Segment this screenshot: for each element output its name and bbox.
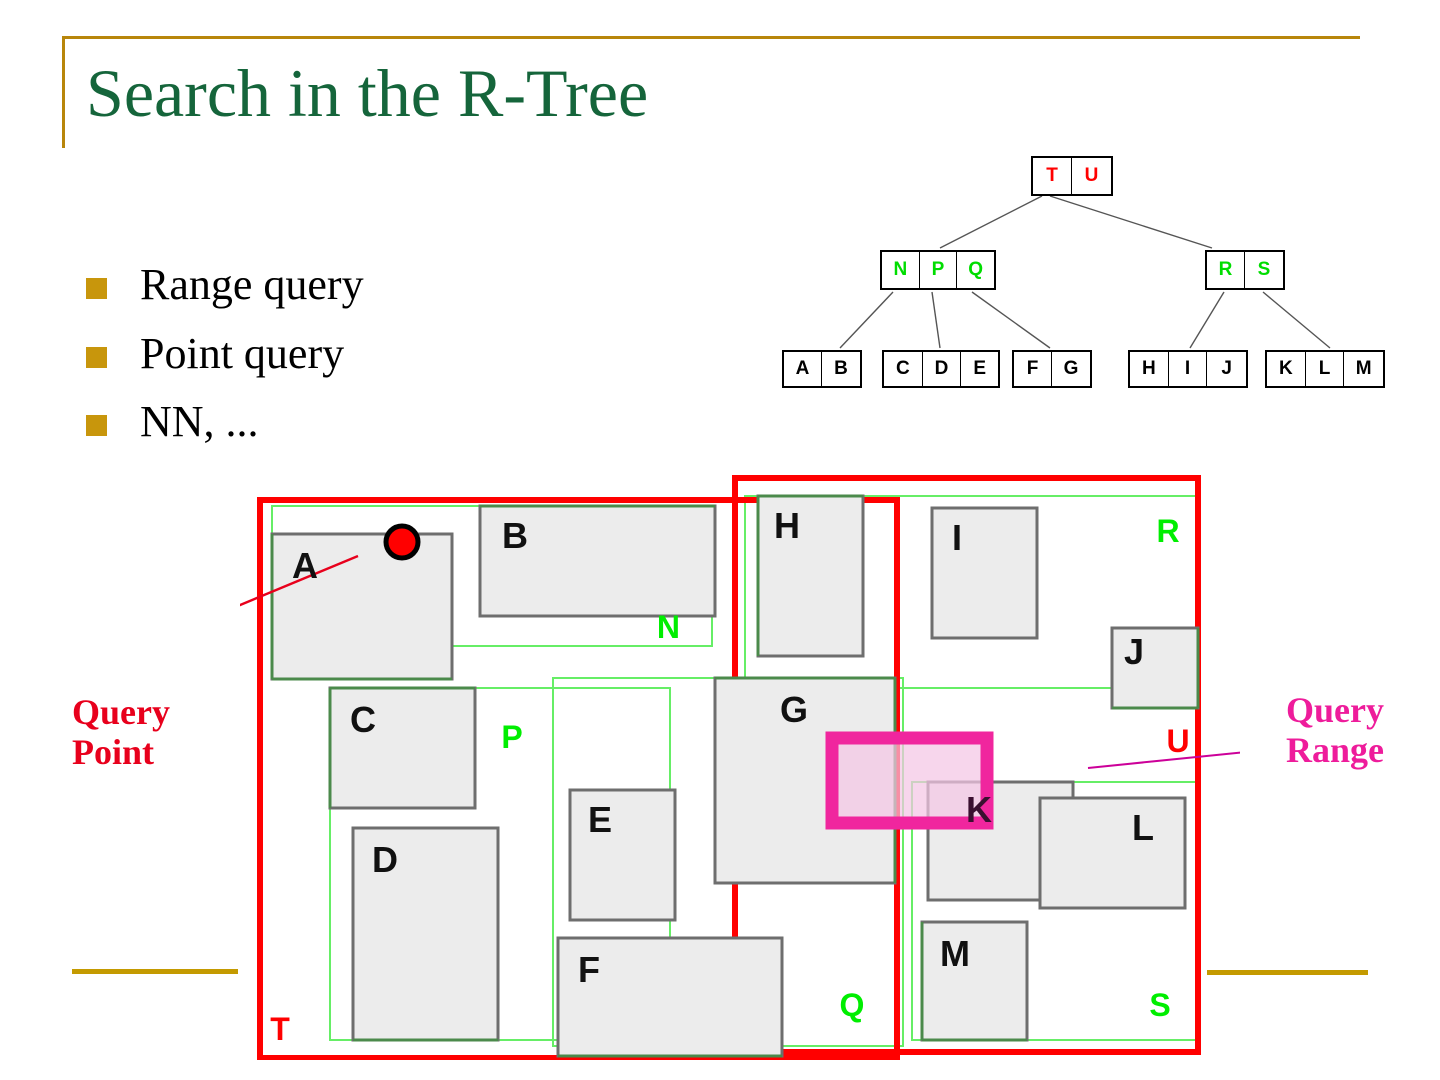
rtree-node-diagram: T U N P Q R S A B C D E F G H I J [760,150,1410,400]
top-gold-rule [62,36,1360,39]
tree-node-RS[interactable]: R S [1205,250,1285,290]
tree-leaf-AB[interactable]: A B [782,350,862,388]
map-label-R: R [1156,513,1179,549]
list-item: NN, ... [86,399,516,446]
tree-cell-F[interactable]: F [1014,352,1052,386]
tree-leaf-FG[interactable]: F G [1012,350,1092,388]
page-title: Search in the R-Tree [86,58,648,129]
tree-cell-K[interactable]: K [1267,352,1306,386]
tree-cell-D[interactable]: D [923,352,962,386]
tree-cell-G[interactable]: G [1052,352,1090,386]
map-rect-label-B: B [502,515,528,556]
query-point-line-2: Point [72,732,170,772]
tree-cell-I[interactable]: I [1169,352,1208,386]
tree-cell-T[interactable]: T [1033,158,1072,194]
tree-cell-R[interactable]: R [1207,252,1245,288]
square-bullet-icon [86,347,107,368]
map-rect-label-I: I [952,517,962,558]
map-rect-label-M: M [940,933,970,974]
map-rect-label-A: A [292,545,318,586]
query-point-annotation: Query Point [72,692,170,773]
map-rect-label-K: K [966,789,992,830]
map-label-P: P [501,719,522,755]
map-label-N: N [657,609,680,645]
tree-cell-U[interactable]: U [1072,158,1111,194]
data-rect-I [932,508,1037,638]
tree-leaf-CDE[interactable]: C D E [882,350,1000,388]
data-rect-M [922,922,1027,1040]
query-range-box [832,738,987,823]
tree-node-NPQ[interactable]: N P Q [880,250,996,290]
tree-cell-S[interactable]: S [1245,252,1283,288]
query-range-annotation: Query Range [1286,690,1384,771]
map-label-U: U [1166,723,1189,759]
map-rect-label-H: H [774,505,800,546]
bottom-left-gold-rule [72,969,238,974]
map-label-S: S [1149,987,1170,1023]
tree-cell-P[interactable]: P [920,252,958,288]
left-gold-rule [62,36,65,148]
data-rect-E [570,790,675,920]
bullet-label: Point query [140,331,344,378]
tree-leaf-HIJ[interactable]: H I J [1128,350,1248,388]
map-rect-label-C: C [350,699,376,740]
map-rect-label-J: J [1124,631,1144,672]
tree-cell-B[interactable]: B [822,352,860,386]
rtree-spatial-map: N P Q R S T U A B C D E F G H I J K L M [240,460,1240,1060]
tree-cell-E[interactable]: E [961,352,998,386]
query-range-line-1: Query [1286,690,1384,730]
square-bullet-icon [86,415,107,436]
query-range-leader-line [1088,748,1240,768]
bullet-list: Range query Point query NN, ... [86,262,516,468]
map-rect-label-D: D [372,839,398,880]
map-rect-label-L: L [1132,807,1154,848]
query-range-line-2: Range [1286,730,1384,770]
list-item: Point query [86,331,516,378]
tree-leaf-KLM[interactable]: K L M [1265,350,1385,388]
map-label-T: T [270,1011,290,1047]
map-svg: N P Q R S T U A B C D E F G H I J K L M [240,460,1240,1060]
slide-canvas: Search in the R-Tree Range query Point q… [0,0,1440,1080]
query-point-line-1: Query [72,692,170,732]
tree-node-root[interactable]: T U [1031,156,1113,196]
bullet-label: NN, ... [140,399,259,446]
tree-cell-Q[interactable]: Q [957,252,994,288]
tree-cell-H[interactable]: H [1130,352,1169,386]
tree-cell-A[interactable]: A [784,352,822,386]
bullet-label: Range query [140,262,364,309]
map-rect-label-F: F [578,949,600,990]
square-bullet-icon [86,278,107,299]
map-label-Q: Q [840,987,865,1023]
tree-cell-M[interactable]: M [1344,352,1383,386]
tree-cell-J[interactable]: J [1207,352,1246,386]
map-rect-label-G: G [780,689,808,730]
list-item: Range query [86,262,516,309]
map-rect-label-E: E [588,799,612,840]
tree-cell-N[interactable]: N [882,252,920,288]
tree-cell-L[interactable]: L [1306,352,1345,386]
data-rect-L [1040,798,1185,908]
query-point-dot [386,526,418,558]
tree-cell-C[interactable]: C [884,352,923,386]
